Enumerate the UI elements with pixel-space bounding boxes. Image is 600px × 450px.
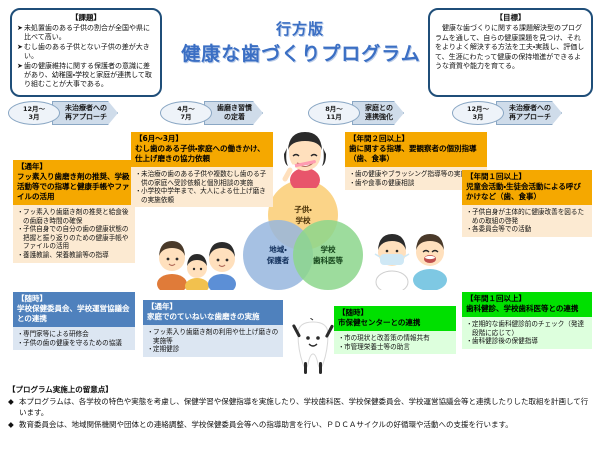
timeline-period-line1: 4月～ [177, 105, 195, 113]
timeline-label-line2: の定着 [224, 113, 245, 122]
list-item: ・定期的な歯科健診前のチェック（発達段階に応じて） [466, 320, 588, 337]
timeline-period-line1: 12月～ [23, 105, 45, 113]
card-body: ・フッ素入り歯磨き剤の推奨と給食後の歯磨き時間の確保 ・子供自身での自分の歯の健… [13, 205, 135, 263]
timeline-period: 12月～ 3月 [8, 101, 60, 125]
bullet-dot-icon: ・ [17, 339, 24, 348]
bullet-dot-icon: ・ [147, 345, 154, 354]
notes-item-text: 教育委員会は、地域関係機関や団体との連絡調整、学校保健委員会等への指導助言を行い… [19, 420, 513, 429]
bullet-dot-icon: ・ [17, 208, 24, 217]
timeline-period-line1: 8月～ [325, 105, 343, 113]
card-heading: 学校保健委員会、学校運営協議会との連携 [17, 304, 131, 324]
card-tag: 【通年】 [17, 162, 131, 172]
issue-box: 【課題】 ➤未処置歯のある子供の割合が全国や県に比べて高い。 ➤むし歯のある子供… [10, 8, 162, 97]
venn-left-label-line1: 地域・ [267, 244, 290, 255]
card-body: ・定期的な歯科健診前のチェック（発達段階に応じて） ・歯科健診後の保健指導 [462, 317, 592, 349]
card-tag: 【年間１回以上】 [466, 172, 588, 182]
card-tag: 【随時】 [17, 294, 131, 304]
timeline-step-3: 8月～ 11月 家庭との 連携強化 [308, 100, 404, 126]
list-item: ➤歯の健康維持に関する保護者の意識に差があり、幼稚園・学校と家庭が連携して取り組… [17, 62, 155, 90]
timeline-label-line1: 未治療者への [509, 104, 551, 113]
card-header: 【年間１回以上】 児童会活動・生徒会活動による呼びかけなど（歯、食事） [462, 170, 592, 205]
bullet-dot-icon: ・ [466, 320, 473, 329]
arrow-bullet-icon: ➤ [17, 24, 23, 33]
bullet-dot-icon: ・ [349, 179, 356, 188]
illustration-family [152, 238, 238, 290]
card-header: 【随時】 学校保健委員会、学校運営協議会との連携 [13, 292, 135, 327]
card-tag: 【随時】 [338, 308, 452, 318]
infographic-canvas: 【課題】 ➤未処置歯のある子供の割合が全国や県に比べて高い。 ➤むし歯のある子供… [0, 0, 600, 450]
bullet-dot-icon: ・ [466, 337, 473, 346]
timeline-period-line2: 3月 [472, 113, 483, 121]
card-heading: むし歯のある子供・家庭への働きかけ、仕上げ磨きの協力依頼 [135, 144, 269, 164]
list-item: ・歯科健診後の保健指導 [466, 337, 588, 346]
timeline-period-line2: 3月 [28, 113, 39, 121]
card-heading: 歯に関する指導、要観察者の個別指導（歯、食事） [349, 144, 483, 164]
timeline-period-line2: 7月 [180, 113, 191, 121]
list-item: ・定期健診 [147, 345, 279, 354]
venn-right-label-line2: 歯科医等 [313, 255, 343, 266]
list-item: ➤むし歯のある子供とない子供の差が大きい。 [17, 43, 155, 62]
issue-box-list: ➤未処置歯のある子供の割合が全国や県に比べて高い。 ➤むし歯のある子供とない子供… [17, 24, 155, 90]
timeline-period: 12月～ 3月 [452, 101, 504, 125]
card-bullet-list: ・子供自身が主体的に健康改善を図るための取組の啓発 ・各委員会等での活動 [466, 208, 588, 234]
card-header: 【随時】 市保健センターとの連携 [334, 306, 456, 331]
list-item: ・未治療の歯のある子供や複数むし歯のる子供の家庭へ受診依頼と個別相談の実施 [135, 170, 269, 187]
timeline-period: 8月～ 11月 [308, 101, 360, 125]
page-title-line2: 健康な歯づくりプログラム [170, 42, 432, 66]
card-bullet-list: ・市の現状と改善策の情報共有 ・市管理栄養士等の助言 [338, 334, 452, 351]
card-heading: 家庭でのていねいな歯磨きの実施 [147, 312, 279, 322]
list-item: ・養護教諭、栄養教諭等の指導 [17, 251, 131, 260]
notes-heading: 【プログラム実施上の留意点】 [8, 384, 594, 395]
timeline-step-4: 12月～ 3月 未治療者への 再アプローチ [452, 100, 562, 126]
arrow-bullet-icon: ➤ [17, 43, 23, 52]
venn-top-label-line1: 子供・ [294, 204, 312, 215]
card-body: ・子供自身が主体的に健康改善を図るための取組の啓発 ・各委員会等での活動 [462, 205, 592, 237]
notes-item-text: 本プログラムは、各学校の特色や実態を考慮し、保健学習や保健指導を実施したり、学校… [19, 397, 588, 417]
venn-right-label-line1: 学校 [313, 244, 343, 255]
card-body: ・未治療の歯のある子供や複数むし歯のる子供の家庭へ受診依頼と個別相談の実施 ・小… [131, 167, 273, 207]
timeline-label-line2: 再アプローチ [65, 113, 107, 122]
card-bullet-list: ・フッ素入り歯磨き剤の利用や仕上げ磨きの実施等 ・定期健診 [147, 328, 279, 354]
illustration-girl-brushing [277, 130, 333, 188]
list-item: ・子供自身での自分の歯の健康状態の把握と振り返りのための健康手帳やファイルの活用 [17, 225, 131, 251]
venn-left-label-line2: 保護者 [267, 255, 290, 266]
card-header: 【通年】 家庭でのていねいな歯磨きの実施 [143, 300, 283, 325]
list-item: ・各委員会等での活動 [466, 225, 588, 234]
list-item: ➤未処置歯のある子供の割合が全国や県に比べて高い。 [17, 24, 155, 43]
illustration-tooth-mascot [292, 318, 334, 374]
timeline-label-line2: 再アプローチ [509, 113, 551, 122]
timeline-step-1: 12月～ 3月 未治療者への 再アプローチ [8, 100, 118, 126]
bullet-dot-icon: ・ [17, 251, 24, 260]
timeline-step-2: 4月～ 7月 歯磨き習慣 の定着 [160, 100, 263, 126]
diamond-bullet-icon: ◆ [8, 419, 14, 430]
card-health-center: 【随時】 市保健センターとの連携 ・市の現状と改善策の情報共有 ・市管理栄養士等… [334, 306, 456, 376]
bullet-dot-icon: ・ [466, 225, 473, 234]
notes-item: ◆ 本プログラムは、各学校の特色や実態を考慮し、保健学習や保健指導を実施したり、… [8, 396, 594, 418]
timeline-label-line1: 未治療者への [65, 104, 107, 113]
bullet-dot-icon: ・ [338, 343, 345, 352]
card-tag: 【6月～3月】 [135, 134, 269, 144]
card-dental-checkup: 【年間１回以上】 歯科健診、学校歯科医等との連携 ・定期的な歯科健診前のチェック… [462, 292, 592, 370]
card-tag: 【通年】 [147, 302, 279, 312]
bullet-dot-icon: ・ [135, 170, 142, 179]
list-item: ・小学校中学年まで、大人による仕上げ磨きの実施依頼 [135, 187, 269, 204]
card-tag: 【年間１回以上】 [466, 294, 588, 304]
card-heading: フッ素入り歯磨き剤の推奨、学級活動等での指導と健康手帳やファイルの活用 [17, 172, 131, 202]
timeline-period: 4月～ 7月 [160, 101, 212, 125]
bullet-dot-icon: ・ [466, 208, 473, 217]
bullet-dot-icon: ・ [135, 187, 142, 196]
list-item: ・子供の歯の健康を守るための協議 [17, 339, 131, 348]
card-bullet-list: ・専門家等による研修会 ・子供の歯の健康を守るための協議 [17, 330, 131, 347]
list-item: ・市管理栄養士等の助言 [338, 343, 452, 352]
timeline-label: 歯磨き習慣 の定着 [204, 101, 263, 125]
card-header: 【通年】 フッ素入り歯磨き剤の推奨、学級活動等での指導と健康手帳やファイルの活用 [13, 160, 135, 205]
card-heading: 児童会活動・生徒会活動による呼びかけなど（歯、食事） [466, 182, 588, 202]
card-home-brushing: 【通年】 家庭でのていねいな歯磨きの実施 ・フッ素入り歯磨き剤の利用や仕上げ磨き… [143, 300, 283, 366]
bullet-dot-icon: ・ [338, 334, 345, 343]
card-header: 【6月～3月】 むし歯のある子供・家庭への働きかけ、仕上げ磨きの協力依頼 [131, 132, 273, 167]
notes-item: ◆ 教育委員会は、地域関係機関や団体との連絡調整、学校保健委員会等への指導助言を… [8, 419, 594, 430]
card-header: 【年間１回以上】 歯科健診、学校歯科医等との連携 [462, 292, 592, 317]
card-caries-support: 【6月～3月】 むし歯のある子供・家庭への働きかけ、仕上げ磨きの協力依頼 ・未治… [131, 132, 273, 234]
card-heading: 歯科健診、学校歯科医等との連携 [466, 304, 588, 314]
list-item: ・市の現状と改善策の情報共有 [338, 334, 452, 343]
illustration-dentist-patient [368, 228, 454, 290]
program-notes: 【プログラム実施上の留意点】 ◆ 本プログラムは、各学校の特色や実態を考慮し、保… [8, 384, 594, 430]
timeline-label: 未治療者への 再アプローチ [496, 101, 562, 125]
timeline-label-line1: 家庭との [365, 104, 393, 113]
card-body: ・専門家等による研修会 ・子供の歯の健康を守るための協議 [13, 327, 135, 350]
card-bullet-list: ・未治療の歯のある子供や複数むし歯のる子供の家庭へ受診依頼と個別相談の実施 ・小… [135, 170, 269, 204]
page-title-line1: 行方版 [180, 20, 420, 39]
timeline-period-line2: 11月 [326, 113, 342, 121]
goal-box: 【目標】 健康な歯づくりに関する課題解決型のプログラムを通して、自らの健康課題を… [428, 8, 593, 97]
card-student-council: 【年間１回以上】 児童会活動・生徒会活動による呼びかけなど（歯、食事） ・子供自… [462, 170, 592, 258]
card-school-all-year: 【通年】 フッ素入り歯磨き剤の推奨、学級活動等での指導と健康手帳やファイルの活用… [13, 160, 135, 288]
card-tag: 【年間２回以上】 [349, 134, 483, 144]
diamond-bullet-icon: ◆ [8, 396, 14, 407]
issue-box-heading: 【課題】 [17, 13, 155, 23]
goal-box-text: 健康な歯づくりに関する課題解決型のプログラムを通して、自らの健康課題を見つけ、そ… [435, 24, 586, 72]
timeline-label: 未治療者への 再アプローチ [52, 101, 118, 125]
venn-circle-school-dentist: 学校 歯科医等 [293, 220, 363, 290]
timeline-period-line1: 12月～ [467, 105, 489, 113]
bullet-dot-icon: ・ [17, 330, 24, 339]
card-heading: 市保健センターとの連携 [338, 318, 452, 328]
bullet-dot-icon: ・ [147, 328, 154, 337]
card-school-committee: 【随時】 学校保健委員会、学校運営協議会との連携 ・専門家等による研修会 ・子供… [13, 292, 135, 366]
list-item: ・専門家等による研修会 [17, 330, 131, 339]
arrow-bullet-icon: ➤ [17, 62, 23, 71]
list-item: ・子供自身が主体的に健康改善を図るための取組の啓発 [466, 208, 588, 225]
list-item: ・フッ素入り歯磨き剤の推奨と給食後の歯磨き時間の確保 [17, 208, 131, 225]
card-body: ・市の現状と改善策の情報共有 ・市管理栄養士等の助言 [334, 331, 456, 354]
timeline-label-line2: 連携強化 [365, 113, 393, 122]
card-bullet-list: ・定期的な歯科健診前のチェック（発達段階に応じて） ・歯科健診後の保健指導 [466, 320, 588, 346]
card-header: 【年間２回以上】 歯に関する指導、要観察者の個別指導（歯、食事） [345, 132, 487, 167]
bullet-dot-icon: ・ [349, 170, 356, 179]
card-bullet-list: ・フッ素入り歯磨き剤の推奨と給食後の歯磨き時間の確保 ・子供自身での自分の歯の健… [17, 208, 131, 260]
bullet-dot-icon: ・ [17, 225, 24, 234]
timeline-label-line1: 歯磨き習慣 [217, 104, 252, 113]
goal-box-heading: 【目標】 [435, 13, 586, 23]
card-body: ・フッ素入り歯磨き剤の利用や仕上げ磨きの実施等 ・定期健診 [143, 325, 283, 357]
list-item: ・フッ素入り歯磨き剤の利用や仕上げ磨きの実施等 [147, 328, 279, 345]
